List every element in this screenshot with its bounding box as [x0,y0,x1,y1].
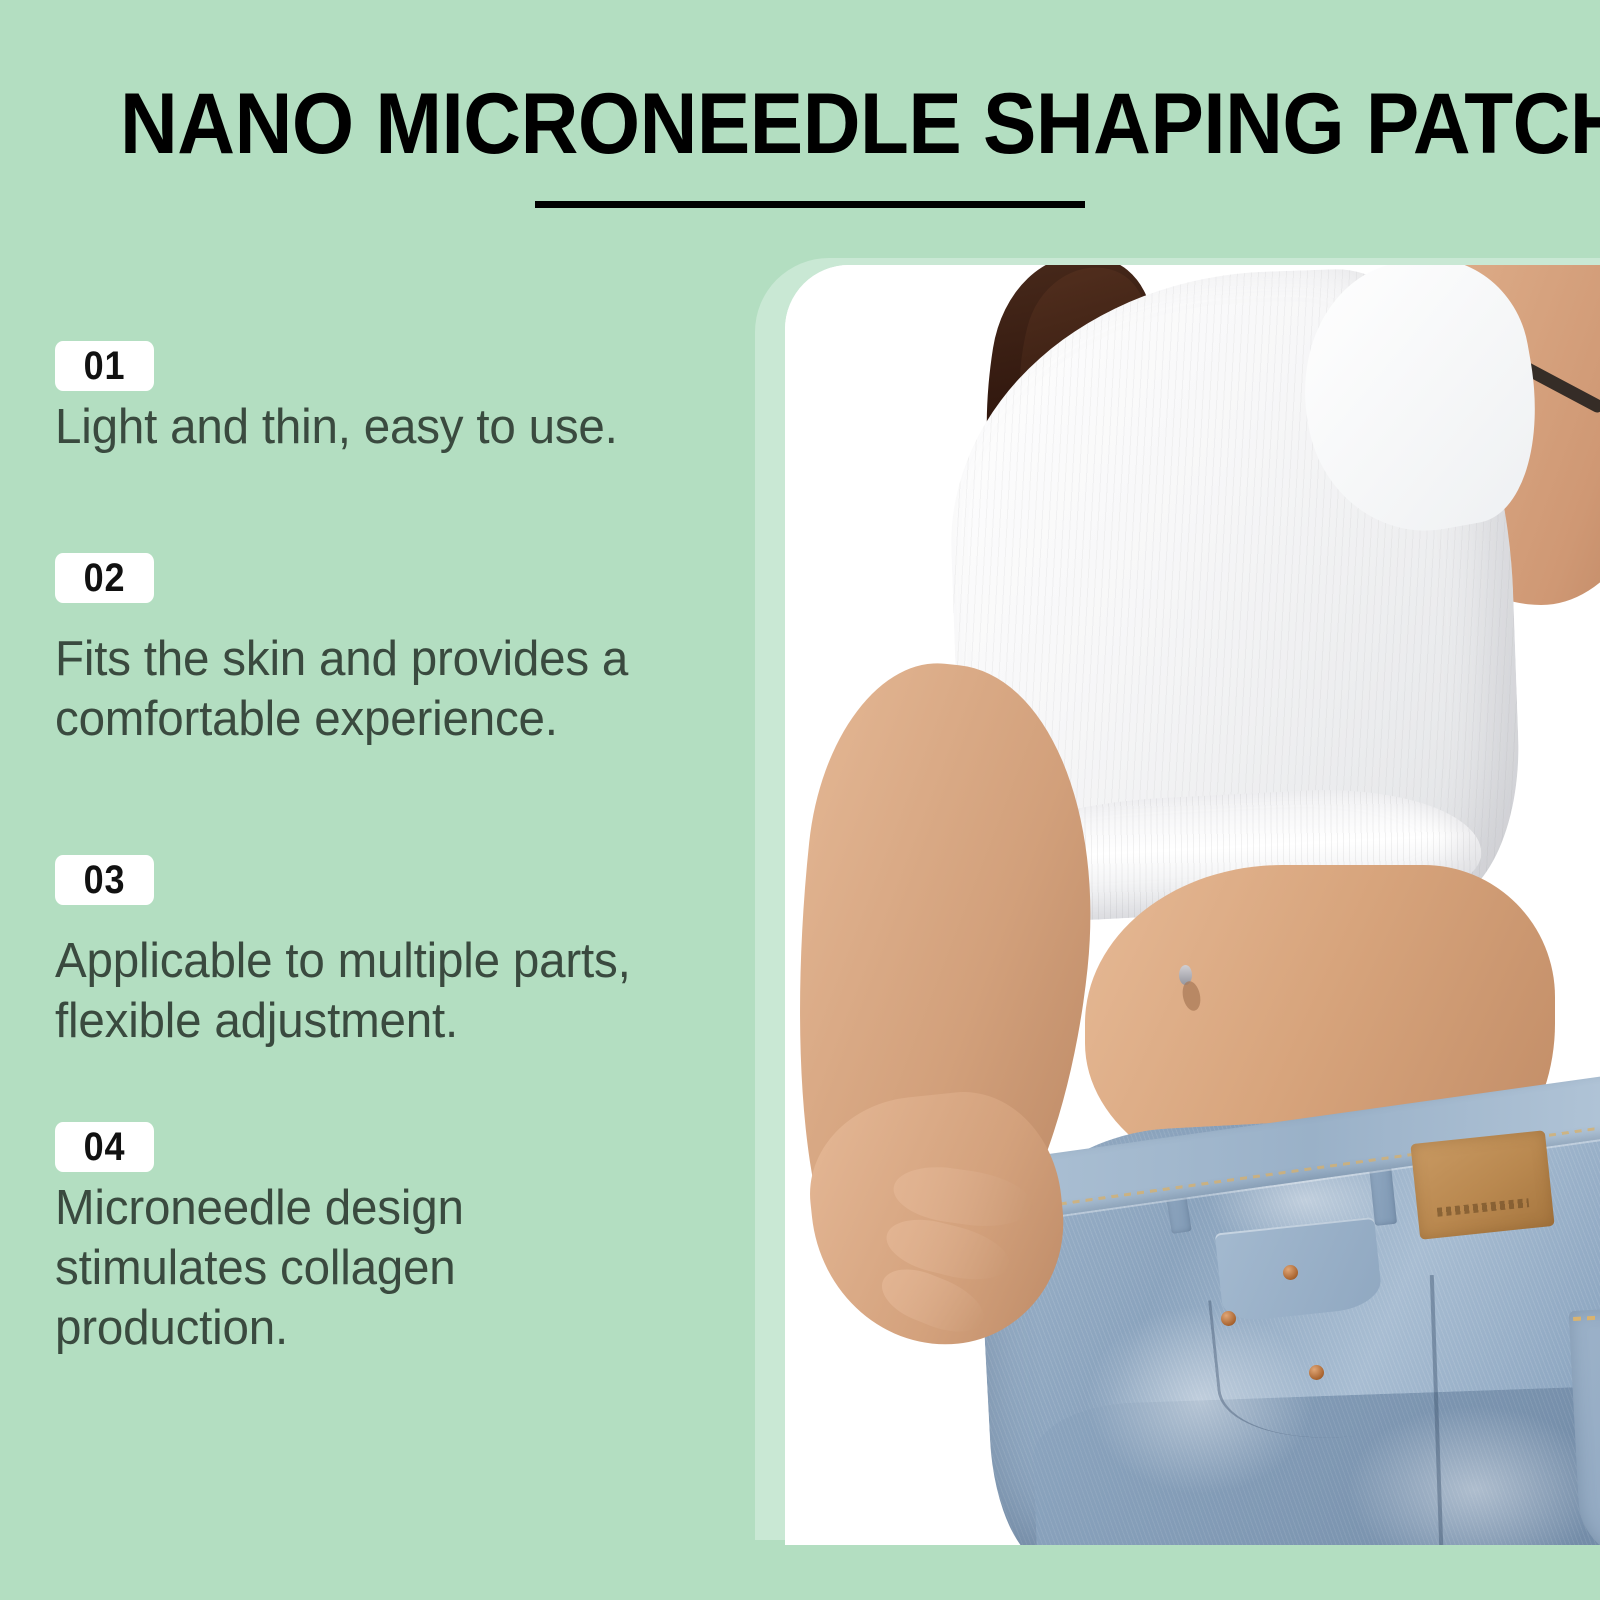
jeans-leather-patch [1410,1130,1554,1240]
feature-item-04: 04 Microneedle design stimulates collage… [55,1122,735,1358]
product-photo-panel [785,265,1600,1545]
jeans-rivet [1283,1265,1298,1280]
feature-item-02: 02 Fits the skin and provides a comforta… [55,553,735,749]
feature-text: Microneedle design stimulates collagen p… [55,1178,656,1358]
feature-number-badge: 01 [55,341,154,391]
jeans-rivet [1221,1311,1236,1326]
model-photo [785,265,1600,1545]
feature-item-03: 03 Applicable to multiple parts, flexibl… [55,855,735,1051]
feature-text: Fits the skin and provides a comfortable… [55,629,676,749]
header: NANO MICRONEEDLE SHAPING PATCH [0,0,1600,230]
jeans-rivet [1309,1365,1324,1380]
feature-number-badge: 04 [55,1122,154,1172]
feature-number-badge: 02 [55,553,154,603]
feature-text: Light and thin, easy to use. [55,397,656,457]
title-divider [535,201,1085,208]
feature-number-badge: 03 [55,855,154,905]
feature-text: Applicable to multiple parts, flexible a… [55,931,715,1051]
page-title: NANO MICRONEEDLE SHAPING PATCH [120,78,1422,170]
feature-item-01: 01 Light and thin, easy to use. [55,341,735,457]
